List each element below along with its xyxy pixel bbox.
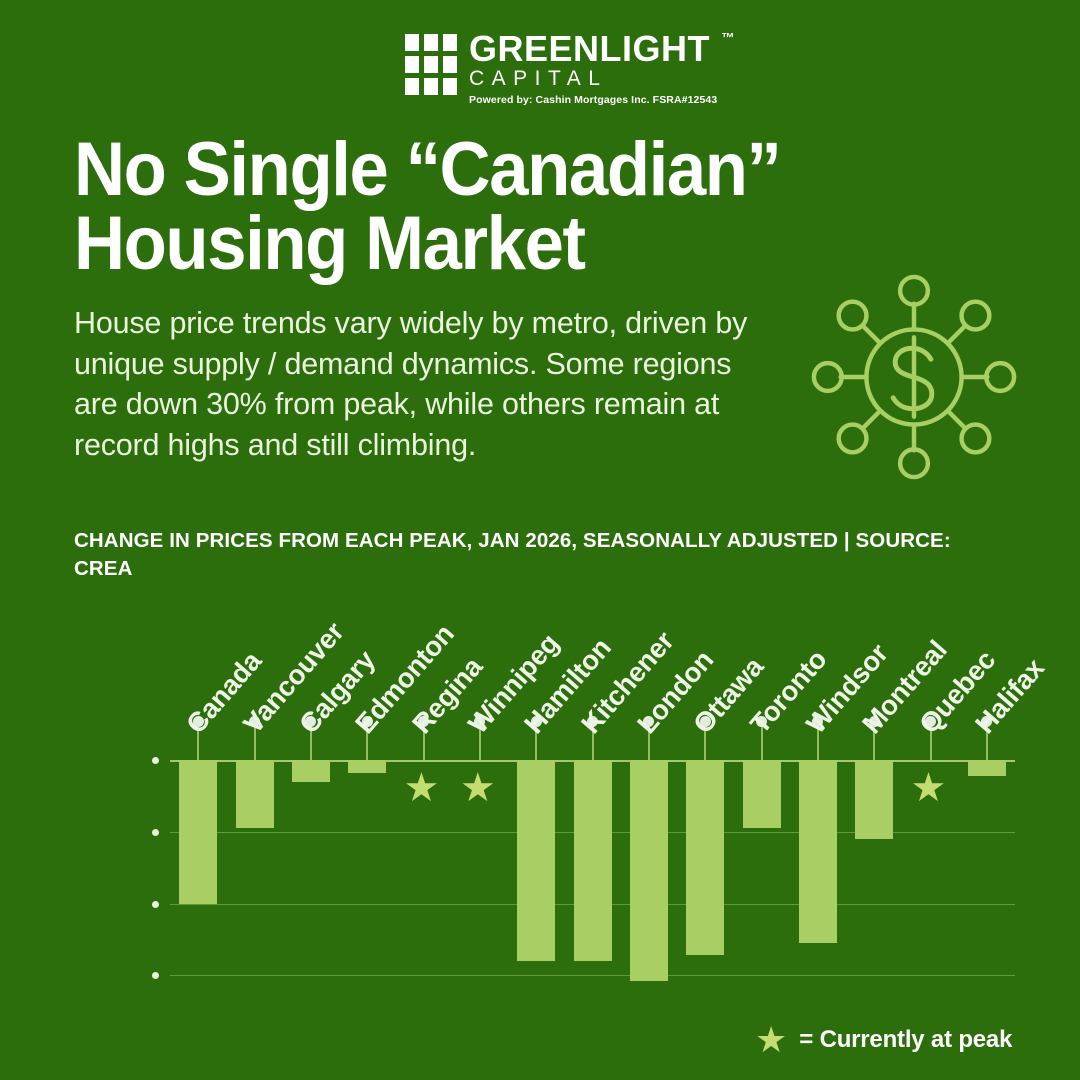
brand-logo: GREENLIGHT ™ CAPITAL Powered by: Cashin …	[405, 32, 717, 106]
dollar-network-icon	[805, 268, 1023, 486]
chart-plot-area: 0%-10%-20%-30%CanadaVancouverCalgaryEdmo…	[170, 760, 1015, 997]
y-tick-dot	[152, 829, 159, 836]
star-icon: ★	[755, 1022, 787, 1058]
bar-london	[630, 760, 668, 981]
at-peak-star-icon: ★	[460, 768, 496, 808]
logo-text-block: GREENLIGHT ™ CAPITAL Powered by: Cashin …	[469, 32, 717, 106]
bar-vancouver	[236, 760, 274, 828]
chart-legend: ★ = Currently at peak	[755, 1022, 1012, 1058]
chart-source-caption: CHANGE IN PRICES FROM EACH PEAK, JAN 202…	[74, 527, 1014, 582]
y-tick-dot	[152, 972, 159, 979]
legend-label: = Currently at peak	[799, 1026, 1012, 1054]
bar-windsor	[799, 760, 837, 943]
gridline-neg30	[170, 975, 1015, 976]
at-peak-star-icon: ★	[404, 768, 440, 808]
bar-hamilton	[517, 760, 555, 961]
bar-halifax	[968, 760, 1006, 776]
logo-grid-icon	[405, 34, 457, 95]
at-peak-star-icon: ★	[911, 768, 947, 808]
bar-canada	[179, 760, 217, 904]
bar-chart: 0%-10%-20%-30%CanadaVancouverCalgaryEdmo…	[0, 600, 1080, 1020]
y-tick-dot	[152, 901, 159, 908]
bar-toronto	[743, 760, 781, 828]
page-title-line-1: No Single “Canadian”	[74, 127, 780, 212]
bar-edmonton	[348, 760, 386, 773]
bar-kitchener	[574, 760, 612, 961]
body-paragraph: House price trends vary widely by metro,…	[74, 303, 774, 465]
infographic-page: GREENLIGHT ™ CAPITAL Powered by: Cashin …	[0, 0, 1080, 1080]
y-tick-dot	[152, 757, 159, 764]
brand-name: GREENLIGHT	[469, 32, 717, 66]
brand-subtitle: CAPITAL	[469, 67, 717, 91]
trademark-symbol: ™	[721, 30, 734, 45]
bar-calgary	[292, 760, 330, 782]
page-title: No Single “Canadian” Housing Market	[74, 133, 967, 280]
bar-ottawa	[686, 760, 724, 955]
powered-by-text: Powered by: Cashin Mortgages Inc. FSRA#1…	[469, 94, 717, 106]
bar-montreal	[855, 760, 893, 839]
